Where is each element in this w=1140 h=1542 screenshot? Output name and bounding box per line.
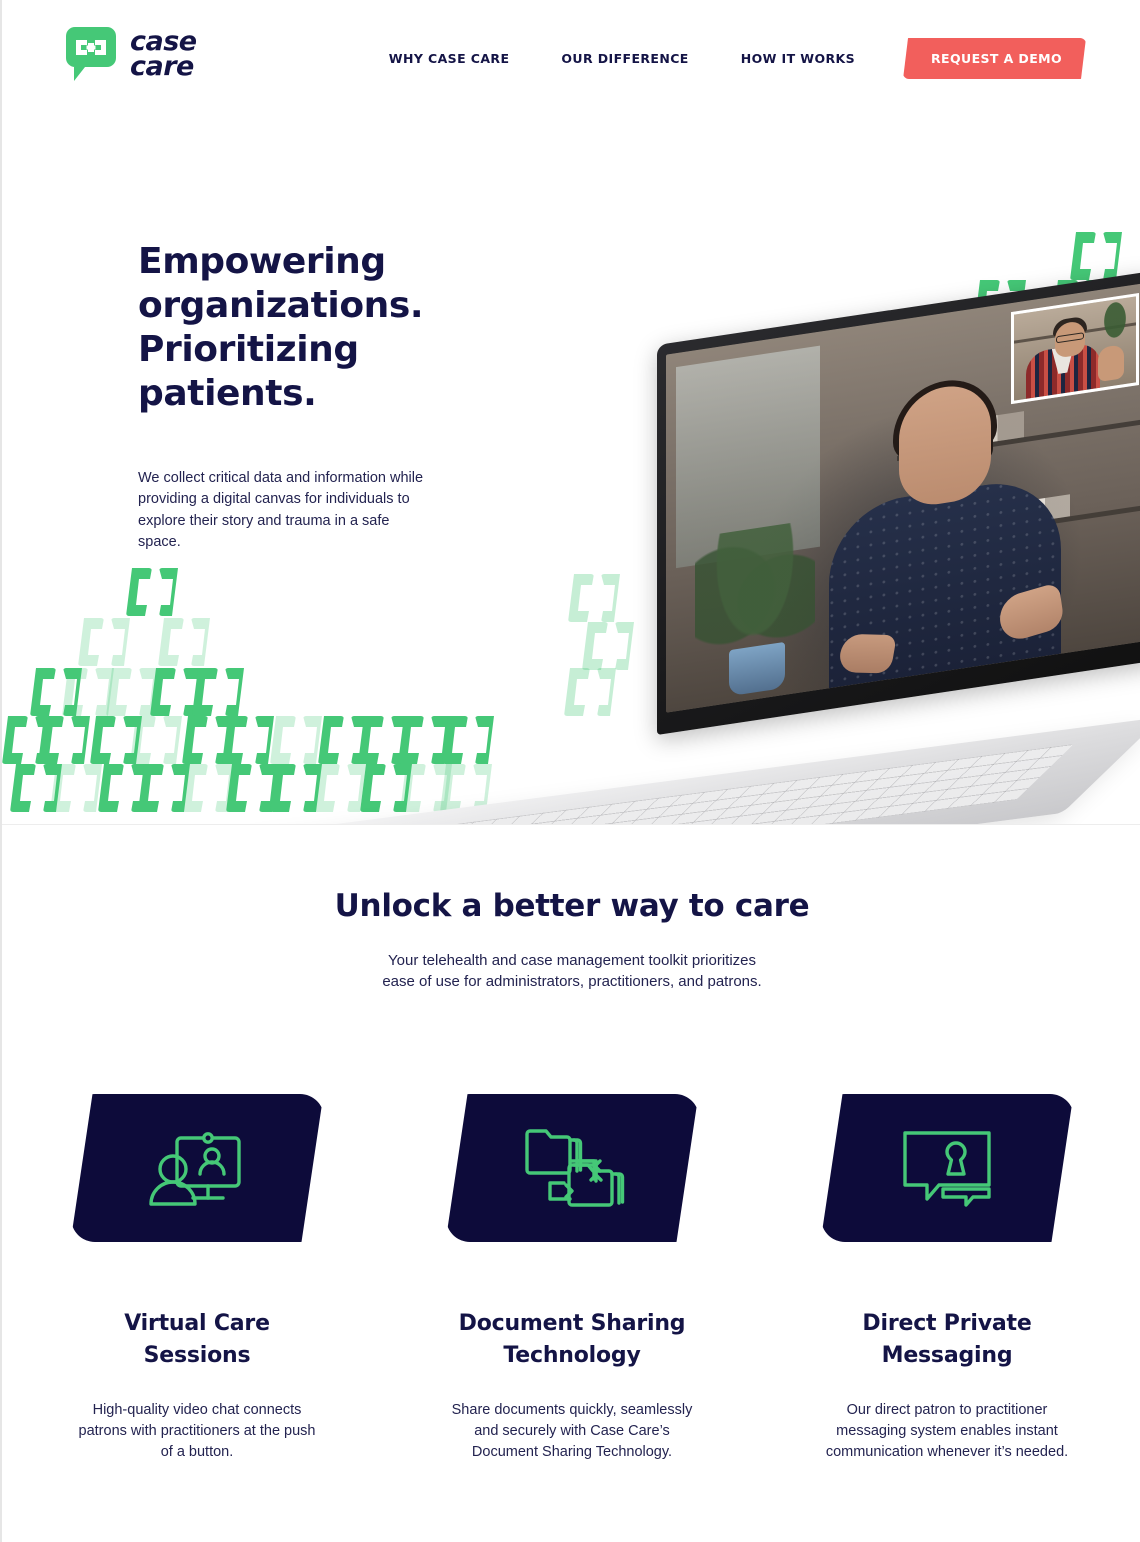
bracket-motif bbox=[158, 618, 220, 666]
feature-card[interactable]: Virtual Care Sessions High-quality video… bbox=[71, 1094, 324, 1463]
bracket-motif bbox=[150, 668, 212, 716]
bracket-motif bbox=[130, 716, 192, 764]
laptop-lid bbox=[657, 270, 1140, 735]
feature-card[interactable]: Direct Private Messaging Our direct patr… bbox=[821, 1094, 1074, 1463]
feature-card-title: Document Sharing Technology bbox=[446, 1308, 699, 1372]
bracket-motif bbox=[2, 716, 64, 764]
bracket-motif bbox=[270, 764, 332, 812]
feature-card[interactable]: Document Sharing Technology Share docume… bbox=[446, 1094, 699, 1463]
landing-page: Empowering organizations. Prioritizing p… bbox=[0, 0, 1140, 1542]
feature-card-icon-tile bbox=[71, 1094, 324, 1242]
bracket-motif bbox=[226, 764, 288, 812]
feature-card-title: Virtual Care Sessions bbox=[71, 1308, 324, 1372]
bracket-motif bbox=[192, 668, 254, 716]
feature-card-title: Direct Private Messaging bbox=[821, 1308, 1074, 1372]
bracket-motif bbox=[182, 764, 244, 812]
feature-card-description: High-quality video chat connects patrons… bbox=[71, 1400, 324, 1463]
bracket-motif bbox=[30, 668, 92, 716]
bracket-motif bbox=[78, 618, 140, 666]
features-section: Unlock a better way to care Your telehea… bbox=[2, 826, 1140, 1542]
hero-title: Empowering organizations. Prioritizing p… bbox=[138, 240, 448, 416]
pip-plant bbox=[1098, 299, 1132, 350]
bracket-motif bbox=[126, 568, 188, 616]
secure-message-icon bbox=[891, 1123, 1003, 1213]
brand-name: case care bbox=[130, 30, 197, 80]
bracket-motif bbox=[182, 716, 244, 764]
hero-subtitle: We collect critical data and information… bbox=[138, 468, 434, 554]
speaker-hand-left bbox=[837, 634, 897, 674]
pip-participant-hand bbox=[1098, 344, 1124, 382]
laptop-screen bbox=[666, 283, 1140, 713]
bracket-motif bbox=[222, 716, 284, 764]
nav-link-our-difference[interactable]: OUR DIFFERENCE bbox=[535, 45, 714, 72]
video-call-pip-window bbox=[1011, 293, 1139, 404]
bracket-motif bbox=[38, 716, 100, 764]
video-call-speaker bbox=[820, 362, 1070, 689]
speech-bubble-logo-icon bbox=[62, 26, 120, 84]
nav-link-how-it-works[interactable]: HOW IT WORKS bbox=[715, 45, 881, 72]
bracket-motif bbox=[10, 764, 72, 812]
feature-card-icon-tile bbox=[821, 1094, 1074, 1242]
laptop-base bbox=[150, 717, 1140, 825]
request-a-demo-button[interactable]: REQUEST A DEMO bbox=[903, 38, 1086, 79]
bracket-motif bbox=[90, 716, 152, 764]
bracket-motif bbox=[62, 668, 124, 716]
feature-card-icon-tile bbox=[446, 1094, 699, 1242]
video-call-icon bbox=[141, 1124, 253, 1212]
main-nav: WHY CASE CARE OUR DIFFERENCE HOW IT WORK… bbox=[363, 38, 1086, 79]
brand-name-line2: care bbox=[130, 51, 194, 82]
laptop-keyboard bbox=[369, 744, 1074, 825]
site-header: case care WHY CASE CARE OUR DIFFERENCE H… bbox=[2, 0, 1140, 112]
bracket-motif bbox=[50, 764, 112, 812]
hero-laptop-image bbox=[372, 345, 1140, 815]
feature-card-list: Virtual Care Sessions High-quality video… bbox=[2, 1094, 1140, 1463]
folder-transfer-icon bbox=[516, 1121, 628, 1215]
bracket-motif bbox=[314, 764, 376, 812]
feature-card-description: Share documents quickly, seamlessly and … bbox=[446, 1400, 699, 1463]
bracket-motif bbox=[1070, 232, 1132, 280]
features-heading: Unlock a better way to care bbox=[2, 888, 1140, 924]
bracket-motif bbox=[318, 716, 380, 764]
bracket-motif bbox=[138, 764, 200, 812]
bracket-motif bbox=[270, 716, 332, 764]
hero-copy: Empowering organizations. Prioritizing p… bbox=[138, 240, 448, 553]
bracket-motif bbox=[106, 668, 168, 716]
bracket-motif bbox=[98, 764, 160, 812]
features-subheading: Your telehealth and case management tool… bbox=[372, 950, 772, 993]
nav-link-why-case-care[interactable]: WHY CASE CARE bbox=[363, 45, 536, 72]
hero-section: Empowering organizations. Prioritizing p… bbox=[2, 0, 1140, 825]
plant-pot bbox=[729, 642, 785, 696]
brand-logo[interactable]: case care bbox=[62, 26, 197, 84]
feature-card-description: Our direct patron to practitioner messag… bbox=[821, 1400, 1074, 1463]
